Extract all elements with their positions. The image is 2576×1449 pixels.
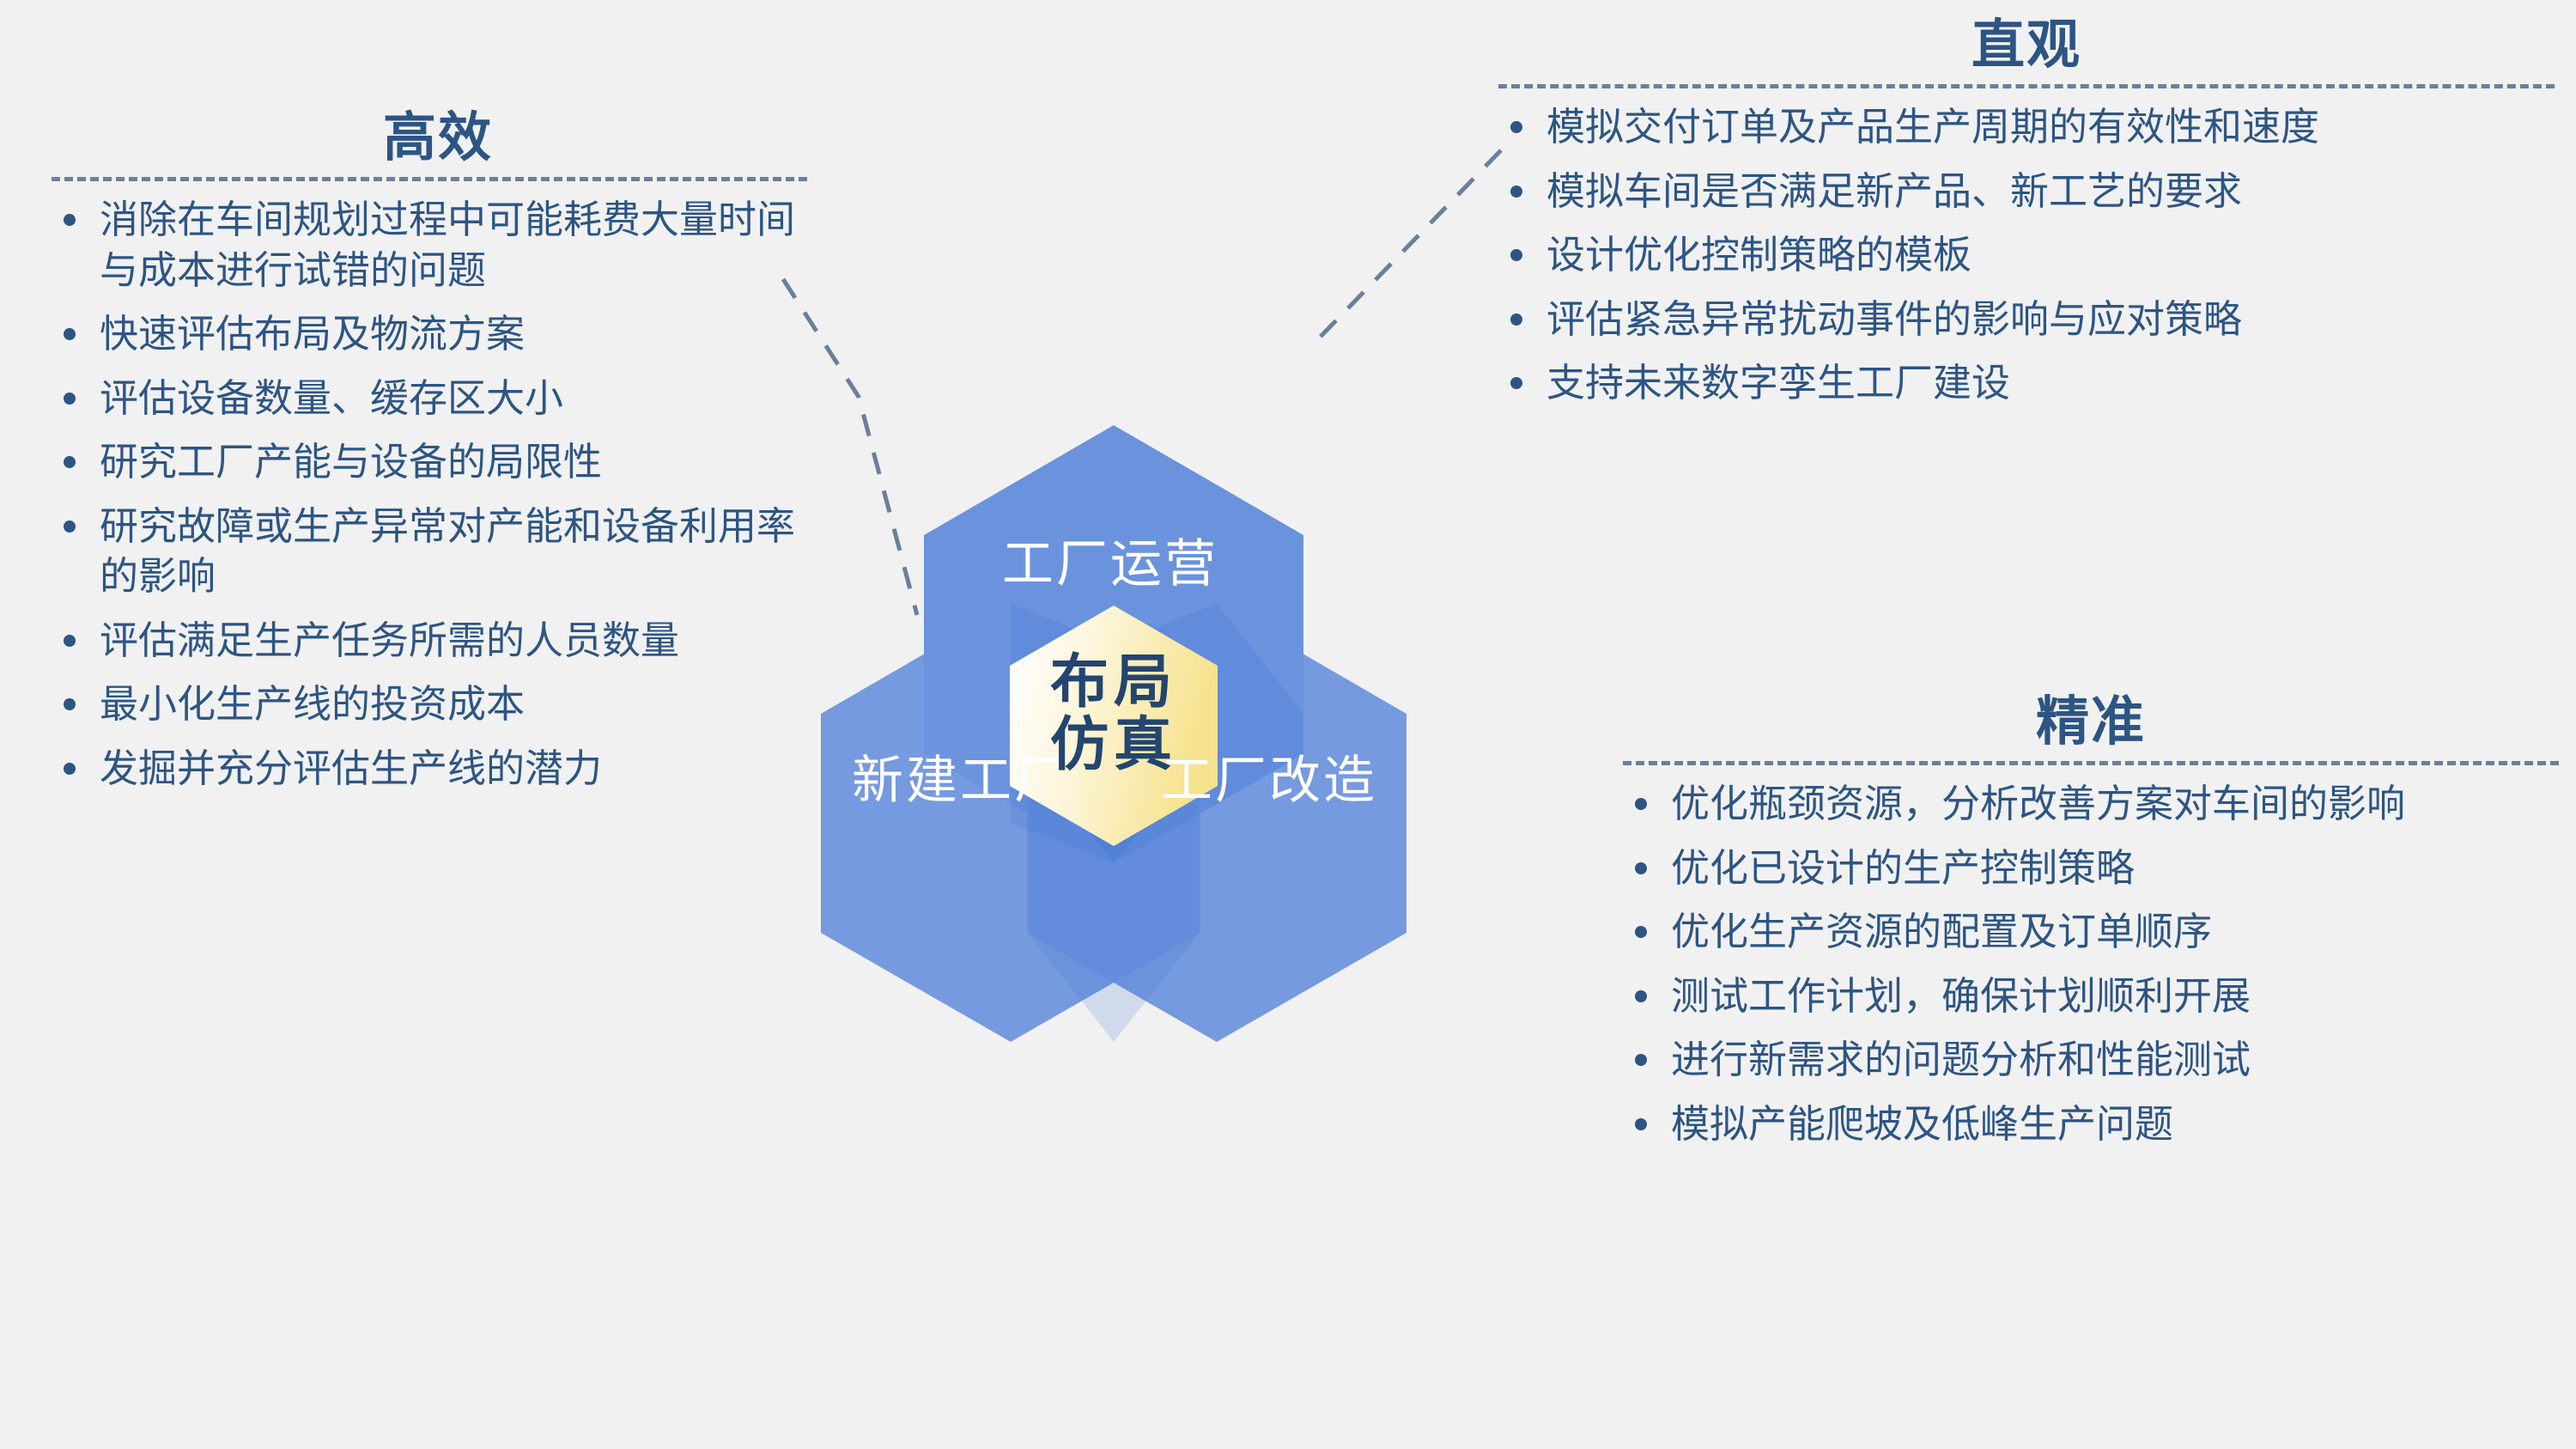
list-item: 模拟车间是否满足新产品、新工艺的要求: [1498, 167, 2555, 217]
section-divider-jingzhun: [1623, 761, 2559, 765]
hexagon-label-top: 工厂运营: [1002, 522, 1218, 597]
list-item: 研究故障或生产异常对产能和设备利用率的影响: [52, 502, 824, 602]
section-zhiguan: 直观 模拟交付订单及产品生产周期的有效性和速度 模拟车间是否满足新产品、新工艺的…: [1498, 19, 2555, 423]
list-item: 测试工作计划，确保计划顺利开展: [1623, 971, 2559, 1022]
section-jingzhun: 精准 优化瓶颈资源，分析改善方案对车间的影响 优化已设计的生产控制策略 优化生产…: [1623, 696, 2559, 1163]
list-item: 评估紧急异常扰动事件的影响与应对策略: [1498, 295, 2555, 345]
bullet-list-zhiguan: 模拟交付订单及产品生产周期的有效性和速度 模拟车间是否满足新产品、新工艺的要求 …: [1498, 102, 2555, 409]
slide-canvas: 工厂运营 新建工厂 工厂改造 布局 仿真 高效 消除在车间规划过程中可能耗费大量…: [0, 0, 2576, 1449]
list-item: 消除在车间规划过程中可能耗费大量时间与成本进行试错的问题: [52, 195, 824, 295]
hexagon-center-label: 布局 仿真: [1019, 651, 1208, 777]
list-item: 模拟交付订单及产品生产周期的有效性和速度: [1498, 102, 2555, 153]
section-divider-gaoxiao: [52, 177, 807, 181]
list-item: 优化生产资源的配置及订单顺序: [1623, 907, 2559, 958]
section-title-gaoxiao: 高效: [52, 112, 824, 165]
center-label-line2: 仿真: [1019, 714, 1208, 776]
section-title-zhiguan: 直观: [1498, 19, 2555, 72]
list-item: 最小化生产线的投资成本: [52, 679, 824, 730]
section-gaoxiao: 高效 消除在车间规划过程中可能耗费大量时间与成本进行试错的问题 快速评估布局及物…: [52, 112, 824, 807]
list-item: 研究工厂产能与设备的局限性: [52, 437, 824, 488]
list-item: 发掘并充分评估生产线的潜力: [52, 744, 824, 795]
hexagon-venn-diagram: 工厂运营 新建工厂 工厂改造 布局 仿真: [756, 309, 1640, 1134]
list-item: 设计优化控制策略的模板: [1498, 230, 2555, 281]
center-label-line1: 布局: [1019, 651, 1208, 714]
list-item: 快速评估布局及物流方案: [52, 309, 824, 360]
section-title-jingzhun: 精准: [1623, 696, 2559, 749]
list-item: 评估设备数量、缓存区大小: [52, 374, 824, 424]
section-divider-zhiguan: [1498, 84, 2555, 88]
bullet-list-jingzhun: 优化瓶颈资源，分析改善方案对车间的影响 优化已设计的生产控制策略 优化生产资源的…: [1623, 779, 2559, 1149]
list-item: 优化已设计的生产控制策略: [1623, 843, 2559, 894]
bullet-list-gaoxiao: 消除在车间规划过程中可能耗费大量时间与成本进行试错的问题 快速评估布局及物流方案…: [52, 195, 824, 794]
list-item: 支持未来数字孪生工厂建设: [1498, 358, 2555, 409]
list-item: 优化瓶颈资源，分析改善方案对车间的影响: [1623, 779, 2559, 830]
list-item: 模拟产能爬坡及低峰生产问题: [1623, 1099, 2559, 1150]
list-item: 评估满足生产任务所需的人员数量: [52, 616, 824, 667]
list-item: 进行新需求的问题分析和性能测试: [1623, 1035, 2559, 1086]
